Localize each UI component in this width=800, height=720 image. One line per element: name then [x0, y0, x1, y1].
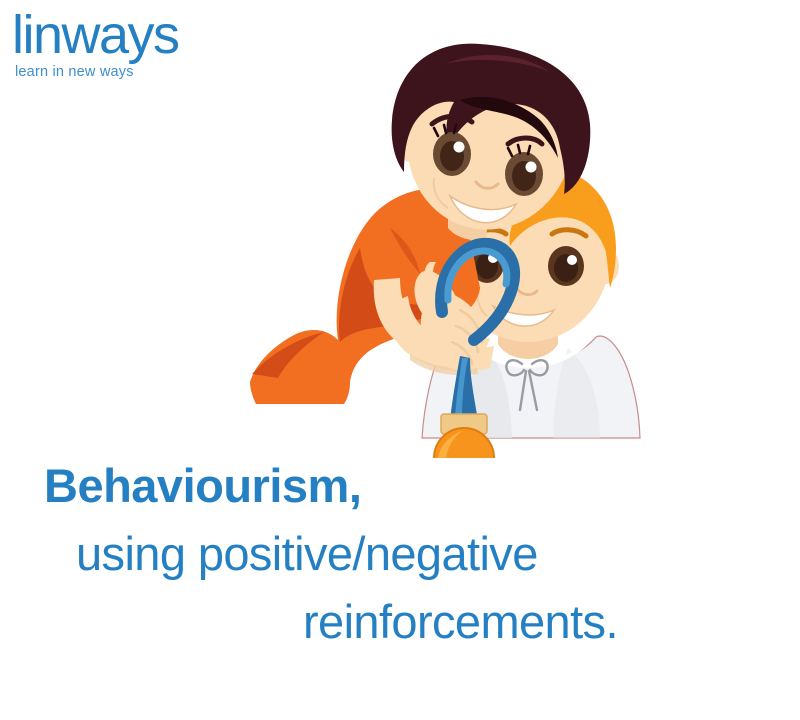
caption-block: Behaviourism, using positive/negative re… [0, 462, 800, 645]
caption-line-1: Behaviourism, [44, 462, 800, 509]
teacher-and-boy-illustration [160, 38, 690, 458]
brand-tagline: learn in new ways [15, 64, 134, 80]
slide-canvas: linways learn in new ways [0, 0, 800, 720]
brand-wordmark: linways [12, 8, 179, 62]
teacher-dress-hem [250, 382, 350, 404]
caption-line-3: reinforcements. [303, 598, 800, 645]
boy-eye-right [548, 246, 584, 286]
caption-line-2: using positive/negative [76, 530, 800, 577]
